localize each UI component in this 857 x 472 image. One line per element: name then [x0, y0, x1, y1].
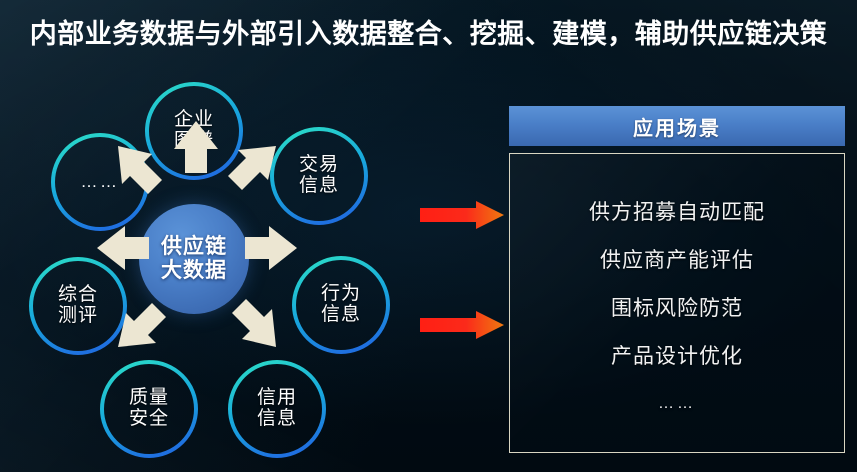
node-credit-info[interactable]: 信用信息	[226, 358, 328, 460]
diagram-arrow-downright	[222, 293, 280, 351]
panel-item-1[interactable]: 供应商产能评估	[600, 244, 754, 274]
diagram-arrow-right	[243, 224, 299, 272]
page-title: 内部业务数据与外部引入数据整合、挖掘、建模，辅助供应链决策	[0, 12, 857, 51]
panel-body: 供方招募自动匹配 供应商产能评估 围标风险防范 产品设计优化 ……	[509, 153, 845, 453]
node-label-quality-safety: 质量安全	[129, 388, 169, 429]
panel-item-4: ……	[658, 395, 696, 413]
diagram-arrow-left	[95, 224, 151, 272]
connector-arrow-top	[420, 201, 504, 229]
panel-header-title: 应用场景	[633, 112, 721, 141]
slide-canvas: 内部业务数据与外部引入数据整合、挖掘、建模，辅助供应链决策 供应链	[0, 0, 857, 472]
panel-item-3[interactable]: 产品设计优化	[611, 340, 743, 370]
application-scenarios-panel: 应用场景 供方招募自动匹配 供应商产能评估 围标风险防范 产品设计优化 ……	[509, 106, 845, 453]
node-label-transaction-info: 交易信息	[299, 155, 339, 196]
center-node-label: 供应链 大数据	[161, 235, 227, 284]
node-quality-safety[interactable]: 质量安全	[98, 358, 200, 460]
connector-arrow-bottom	[420, 311, 504, 339]
panel-item-2[interactable]: 围标风险防范	[611, 292, 743, 322]
diagram-arrow-up	[172, 119, 220, 175]
node-behavior-info[interactable]: 行为信息	[290, 254, 392, 356]
diagram-arrow-upleft	[114, 142, 172, 200]
node-label-credit-info: 信用信息	[257, 388, 297, 429]
panel-header: 应用场景	[509, 106, 845, 146]
diagram-arrow-upright	[222, 142, 280, 200]
diagram-arrow-downleft	[114, 293, 172, 351]
panel-item-0[interactable]: 供方招募自动匹配	[589, 196, 765, 226]
node-label-comprehensive-evaluation: 综合测评	[58, 285, 98, 326]
supply-chain-bigdata-diagram: 供应链 大数据 企业图谱	[18, 78, 408, 470]
node-transaction-info[interactable]: 交易信息	[268, 125, 370, 227]
node-label-behavior-info: 行为信息	[321, 284, 361, 325]
